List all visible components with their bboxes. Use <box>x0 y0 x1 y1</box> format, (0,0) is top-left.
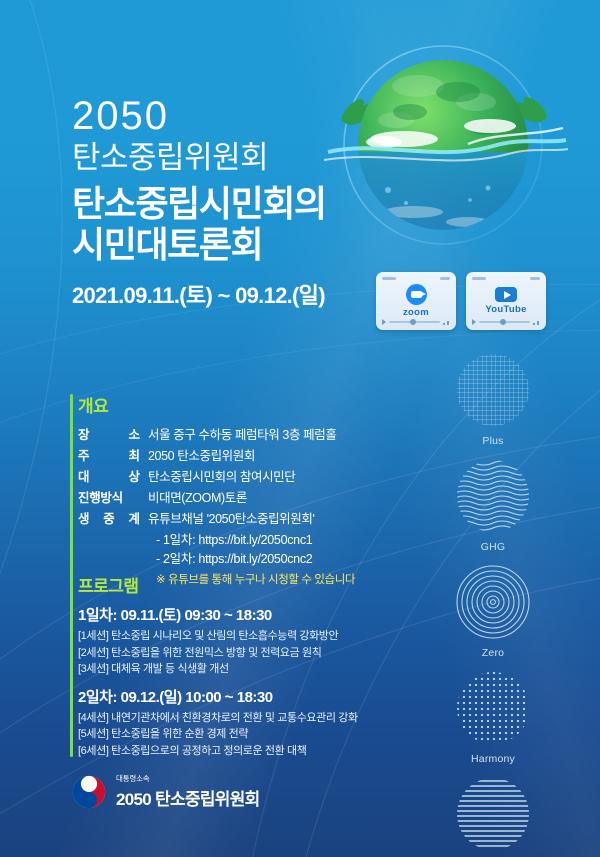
overview-value-format: 비대면(ZOOM)토론 <box>148 487 247 506</box>
taegeuk-emblem-icon <box>72 775 106 809</box>
headline-organization: 탄소중립위원회 <box>72 140 402 177</box>
grid-pattern-icon <box>455 352 531 428</box>
program-day2-heading: 2일차: 09.12.(일) 10:00 ~ 18:30 <box>78 686 378 707</box>
overview-value-host: 2050 탄소중립위원회 <box>148 445 255 464</box>
overview-accent-bar <box>70 394 73 585</box>
overview-row-broadcast: 생중계 유튜브채널 '2050탄소중립위원회' <box>78 508 378 527</box>
headline-year: 2050 <box>72 96 402 136</box>
zoom-card[interactable]: zoom <box>376 272 456 330</box>
program-title: 프로그램 <box>78 572 378 597</box>
program-day2-session4: [4세션] 내연기관차에서 친환경차로의 전환 및 교통수요관리 강화 <box>78 710 378 727</box>
motif-plus: Plus <box>408 352 578 447</box>
overview-label-host: 주최 <box>78 445 140 464</box>
motif-zero-label: Zero <box>408 647 578 659</box>
card-menu-icon <box>530 277 540 280</box>
overview-row-audience: 대상 탄소중립시민회의 참여시민단 <box>78 466 378 485</box>
motif-harmony: Harmony <box>408 670 578 765</box>
overview-value-audience: 탄소중립시민회의 참여시민단 <box>148 466 295 485</box>
zoom-camera-icon <box>406 284 427 305</box>
program-day2-session5: [5세션] 탄소중립을 위한 순환 경제 전략 <box>78 726 378 743</box>
overview-label-audience: 대상 <box>78 466 140 485</box>
horizontal-lines-icon <box>455 776 531 852</box>
program-day1-session3: [3세션] 대체육 개발 등 식생활 개선 <box>78 661 378 678</box>
motif-minus: Minus <box>408 776 578 857</box>
card-top-bar-icon <box>382 277 396 280</box>
motif-plus-label: Plus <box>408 435 578 447</box>
program-day2-session6: [6세션] 탄소중립으로의 공정하고 정의로운 전환 대책 <box>78 743 378 760</box>
headline-title-line1: 탄소중립시민회의 <box>72 183 402 225</box>
concentric-rings-icon <box>455 564 531 640</box>
motif-harmony-label: Harmony <box>408 753 578 765</box>
motif-column: Plus <box>408 352 578 857</box>
youtube-play-icon <box>495 287 517 302</box>
wave-pattern-icon <box>455 458 531 534</box>
overview-value-venue: 서울 중구 수하동 페럼타워 3층 페럼홀 <box>148 424 336 443</box>
zoom-card-label: zoom <box>403 307 429 318</box>
broadcast-link-day2[interactable]: - 2일차: https://bit.ly/2050cnc2 <box>156 548 378 567</box>
footer-committee-name: 2050 탄소중립위원회 <box>116 785 260 810</box>
headline-title-line2: 시민대토론회 <box>72 224 402 266</box>
overview-label-broadcast: 생중계 <box>78 508 140 527</box>
card-player-controls <box>382 320 450 324</box>
broadcast-link-day1[interactable]: - 1일차: https://bit.ly/2050cnc1 <box>156 529 378 548</box>
overview-row-format: 진행방식 비대면(ZOOM)토론 <box>78 487 378 506</box>
motif-ghg: GHG <box>408 458 578 553</box>
overview-section: 개요 장소 서울 중구 수하동 페럼타워 3층 페럼홀 주최 2050 탄소중립… <box>78 392 378 587</box>
footer-affiliation: 대통령소속 <box>116 773 260 784</box>
card-top-bar-icon <box>472 277 486 280</box>
youtube-card-label: YouTube <box>485 304 526 315</box>
program-day1-session2: [2세션] 탄소중립을 위한 전원믹스 방향 및 전력요금 원칙 <box>78 645 378 662</box>
overview-title: 개요 <box>78 392 378 417</box>
program-accent-bar <box>70 574 73 757</box>
overview-value-broadcast: 유튜브채널 '2050탄소중립위원회' <box>148 508 314 527</box>
program-section: 프로그램 1일차: 09.11.(토) 09:30 ~ 18:30 [1세션] … <box>78 572 378 759</box>
overview-row-host: 주최 2050 탄소중립위원회 <box>78 445 378 464</box>
card-menu-icon <box>440 277 450 280</box>
poster-headline: 2050 탄소중립위원회 탄소중립시민회의 시민대토론회 2021.09.11.… <box>72 96 402 310</box>
overview-label-format: 진행방식 <box>78 487 140 506</box>
dot-pattern-icon <box>455 670 531 746</box>
card-player-controls <box>472 320 540 324</box>
motif-zero: Zero <box>408 564 578 659</box>
poster-canvas: 2050 탄소중립위원회 탄소중립시민회의 시민대토론회 2021.09.11.… <box>0 0 600 857</box>
program-day1-heading: 1일차: 09.11.(토) 09:30 ~ 18:30 <box>78 604 378 625</box>
overview-row-venue: 장소 서울 중구 수하동 페럼타워 3층 페럼홀 <box>78 424 378 443</box>
youtube-card[interactable]: YouTube <box>466 272 546 330</box>
media-card-group: zoom YouTube <box>376 272 546 330</box>
footer-logo-block: 대통령소속 2050 탄소중립위원회 <box>72 773 260 810</box>
overview-label-venue: 장소 <box>78 424 140 443</box>
program-day1-session1: [1세션] 탄소중립 시나리오 및 산림의 탄소흡수능력 강화방안 <box>78 628 378 645</box>
motif-ghg-label: GHG <box>408 541 578 553</box>
headline-date-range: 2021.09.11.(토) ~ 09.12.(일) <box>72 278 402 310</box>
